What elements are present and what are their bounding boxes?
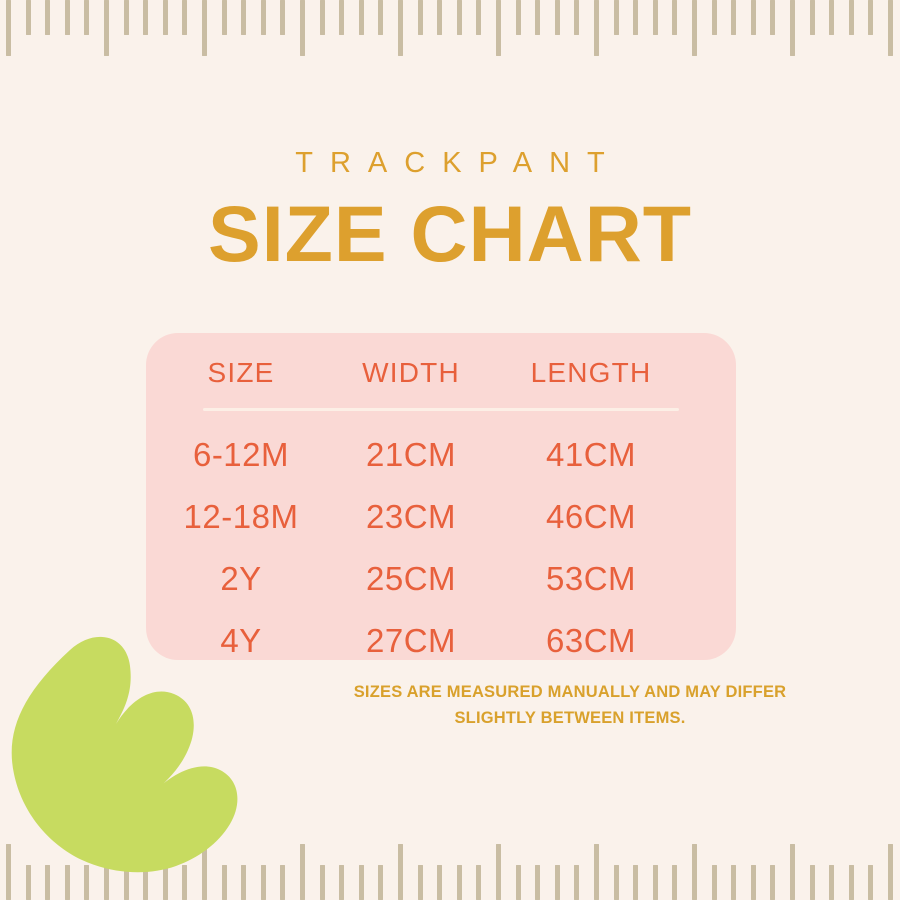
ruler-strip-top	[0, 0, 900, 60]
ruler-tick-minor	[339, 0, 344, 35]
ruler-tick-minor	[241, 0, 246, 35]
table-header-row: SIZE WIDTH LENGTH	[146, 359, 736, 408]
ruler-tick-minor	[633, 0, 638, 35]
ruler-tick-minor	[770, 865, 775, 900]
ruler-tick-minor	[418, 0, 423, 35]
table-row: 4Y 27CM 63CM	[146, 597, 736, 659]
ruler-tick-minor	[574, 0, 579, 35]
ruler-tick-minor	[437, 865, 442, 900]
cell-size: 4Y	[146, 597, 336, 659]
cell-length: 63CM	[486, 597, 696, 659]
size-table-card: SIZE WIDTH LENGTH 6-12M 21CM 41CM 12-18M…	[146, 333, 736, 660]
ruler-tick-minor	[614, 865, 619, 900]
ruler-tick-major	[496, 0, 501, 56]
ruler-tick-minor	[182, 0, 187, 35]
ruler-tick-minor	[45, 0, 50, 35]
ruler-tick-minor	[712, 865, 717, 900]
cell-size: 12-18M	[146, 473, 336, 535]
ruler-tick-minor	[614, 0, 619, 35]
ruler-tick-minor	[222, 0, 227, 35]
ruler-tick-minor	[280, 0, 285, 35]
ruler-tick-minor	[535, 865, 540, 900]
ruler-tick-major	[202, 0, 207, 56]
ruler-tick-minor	[26, 0, 31, 35]
ruler-tick-minor	[378, 0, 383, 35]
ruler-tick-minor	[672, 865, 677, 900]
ruler-tick-major	[594, 0, 599, 56]
ruler-tick-minor	[359, 0, 364, 35]
ruler-tick-minor	[261, 0, 266, 35]
lobed-leaf-icon	[8, 632, 278, 872]
ruler-tick-minor	[378, 865, 383, 900]
ruler-tick-minor	[437, 0, 442, 35]
ruler-tick-major	[398, 844, 403, 900]
cell-length: 53CM	[486, 535, 696, 597]
cell-width: 27CM	[336, 597, 486, 659]
ruler-tick-major	[790, 0, 795, 56]
cell-width: 23CM	[336, 473, 486, 535]
ruler-tick-minor	[810, 865, 815, 900]
ruler-tick-minor	[770, 0, 775, 35]
ruler-tick-minor	[359, 865, 364, 900]
ruler-tick-major	[888, 844, 893, 900]
ruler-tick-major	[692, 844, 697, 900]
cell-width: 25CM	[336, 535, 486, 597]
table-row: 6-12M 21CM 41CM	[146, 411, 736, 473]
ruler-tick-major	[594, 844, 599, 900]
ruler-tick-minor	[163, 0, 168, 35]
ruler-tick-minor	[457, 865, 462, 900]
size-chart-page: TRACKPANT SIZE CHART SIZE WIDTH LENGTH 6…	[0, 0, 900, 900]
ruler-tick-minor	[574, 865, 579, 900]
ruler-tick-minor	[810, 0, 815, 35]
leaf-decoration	[8, 632, 278, 872]
page-title: SIZE CHART	[0, 194, 900, 273]
ruler-tick-minor	[829, 865, 834, 900]
ruler-tick-minor	[124, 0, 129, 35]
ruler-tick-minor	[84, 0, 89, 35]
disclaimer-line-1: SIZES ARE MEASURED MANUALLY AND MAY DIFF…	[270, 680, 870, 706]
ruler-tick-minor	[339, 865, 344, 900]
heading-block: TRACKPANT SIZE CHART	[0, 148, 900, 273]
ruler-tick-minor	[849, 0, 854, 35]
ruler-tick-minor	[143, 0, 148, 35]
ruler-tick-minor	[653, 0, 658, 35]
ruler-tick-minor	[476, 865, 481, 900]
ruler-tick-minor	[320, 865, 325, 900]
ruler-tick-major	[104, 0, 109, 56]
ruler-tick-minor	[280, 865, 285, 900]
ruler-tick-minor	[731, 0, 736, 35]
ruler-tick-minor	[535, 0, 540, 35]
ruler-tick-minor	[868, 0, 873, 35]
table-row: 12-18M 23CM 46CM	[146, 473, 736, 535]
ruler-tick-major	[300, 844, 305, 900]
ruler-tick-minor	[555, 0, 560, 35]
ruler-tick-major	[300, 0, 305, 56]
table-row: 2Y 25CM 53CM	[146, 535, 736, 597]
cell-size: 6-12M	[146, 411, 336, 473]
ruler-tick-minor	[516, 865, 521, 900]
cell-length: 46CM	[486, 473, 696, 535]
size-table: SIZE WIDTH LENGTH 6-12M 21CM 41CM 12-18M…	[146, 333, 736, 659]
ruler-tick-minor	[516, 0, 521, 35]
column-header-size: SIZE	[146, 359, 336, 408]
ruler-tick-minor	[418, 865, 423, 900]
ruler-tick-major	[692, 0, 697, 56]
ruler-tick-minor	[868, 865, 873, 900]
ruler-tick-minor	[829, 0, 834, 35]
ruler-tick-major	[398, 0, 403, 56]
ruler-tick-minor	[751, 865, 756, 900]
ruler-tick-minor	[751, 0, 756, 35]
ruler-tick-minor	[712, 0, 717, 35]
cell-width: 21CM	[336, 411, 486, 473]
ruler-tick-minor	[555, 865, 560, 900]
column-header-width: WIDTH	[336, 359, 486, 408]
measurement-disclaimer: SIZES ARE MEASURED MANUALLY AND MAY DIFF…	[270, 680, 870, 731]
ruler-tick-minor	[653, 865, 658, 900]
ruler-tick-minor	[672, 0, 677, 35]
ruler-tick-major	[6, 0, 11, 56]
ruler-tick-minor	[65, 0, 70, 35]
ruler-tick-minor	[320, 0, 325, 35]
product-category-label: TRACKPANT	[0, 148, 900, 180]
disclaimer-line-2: SLIGHTLY BETWEEN ITEMS.	[270, 706, 870, 732]
ruler-tick-minor	[476, 0, 481, 35]
ruler-tick-minor	[731, 865, 736, 900]
ruler-tick-minor	[849, 865, 854, 900]
ruler-tick-minor	[457, 0, 462, 35]
ruler-tick-major	[888, 0, 893, 56]
cell-size: 2Y	[146, 535, 336, 597]
cell-length: 41CM	[486, 411, 696, 473]
ruler-tick-minor	[633, 865, 638, 900]
column-header-length: LENGTH	[486, 359, 696, 408]
ruler-tick-major	[790, 844, 795, 900]
ruler-tick-major	[496, 844, 501, 900]
